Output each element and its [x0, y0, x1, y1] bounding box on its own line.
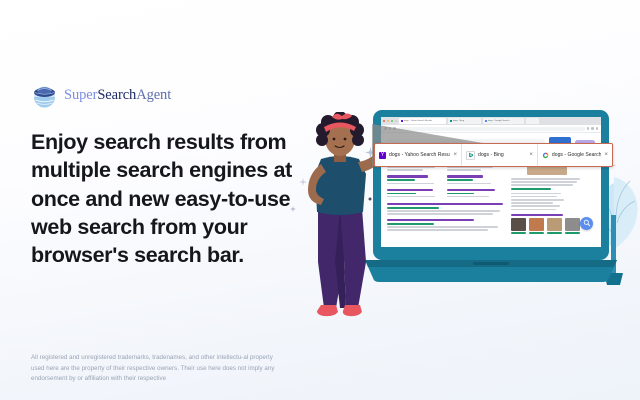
extensions-icon[interactable]: [591, 127, 594, 130]
brand-logo: SuperSearchAgent: [31, 80, 299, 110]
brand-word-search: Search: [97, 87, 136, 103]
window-extra-dot: [395, 120, 397, 122]
bing-glyph-icon: [468, 152, 474, 158]
menu-icon[interactable]: [596, 127, 599, 130]
magnified-tab-label: dogs - Bing: [478, 152, 526, 158]
star-icon[interactable]: [587, 127, 590, 130]
new-tab-button[interactable]: [526, 118, 539, 124]
promo-banner: SuperSearchAgent Enjoy search results fr…: [0, 0, 640, 400]
globe-saucer-logo-icon: [31, 82, 58, 109]
browser-tab-bar[interactable]: dogs - Yahoo Search Results dogs - Bing …: [381, 117, 601, 125]
browser-tab-label: dogs - Bing: [453, 120, 464, 122]
related-image[interactable]: [565, 218, 580, 231]
magnified-tab-google[interactable]: dogs - Google Search ×: [538, 144, 612, 166]
browser-url-bar[interactable]: [381, 125, 601, 133]
google-glyph-icon: [542, 152, 549, 159]
google-icon: [542, 152, 549, 159]
brand-wordmark: SuperSearchAgent: [64, 88, 171, 103]
brand-word-super: Super: [64, 87, 97, 103]
magnified-tab-bing[interactable]: dogs - Bing ×: [462, 144, 538, 166]
laptop-illustration: dogs - Yahoo Search Results dogs - Bing …: [365, 110, 617, 288]
google-icon: [485, 120, 488, 123]
browser-tab[interactable]: dogs - Yahoo Search Results: [399, 118, 446, 124]
hero-text-column: SuperSearchAgent Enjoy search results fr…: [31, 80, 299, 269]
brand-word-agent: Agent: [136, 87, 171, 103]
related-image[interactable]: [529, 218, 544, 231]
related-image[interactable]: [511, 218, 526, 231]
bing-icon: [466, 151, 475, 160]
magnified-tab-yahoo[interactable]: Y dogs - Yahoo Search Results ×: [375, 144, 462, 166]
yahoo-icon: Y: [379, 152, 386, 159]
floating-search-button[interactable]: [580, 217, 593, 230]
address-input[interactable]: [398, 127, 585, 131]
headline: Enjoy search results from multiple searc…: [31, 128, 293, 269]
close-icon[interactable]: ×: [453, 152, 457, 158]
browser-tab[interactable]: dogs - Bing: [448, 118, 481, 124]
browser-tab[interactable]: dogs - Google Search: [483, 118, 524, 124]
reload-icon[interactable]: [393, 127, 396, 130]
browser-tab-label: dogs - Yahoo Search Results: [404, 120, 432, 122]
magnified-tab-strip: Y dogs - Yahoo Search Results × dogs - B…: [374, 143, 613, 167]
yahoo-icon: [401, 120, 404, 123]
related-image[interactable]: [547, 218, 562, 231]
browser-tab-label: dogs - Google Search: [488, 120, 509, 122]
close-icon[interactable]: ×: [604, 152, 608, 158]
magnified-tab-label: dogs - Yahoo Search Results: [389, 152, 450, 158]
bing-icon: [450, 120, 453, 123]
browser-window: dogs - Yahoo Search Results dogs - Bing …: [381, 117, 601, 247]
close-icon[interactable]: ×: [529, 152, 533, 158]
magnified-tab-label: dogs - Google Search: [552, 152, 602, 158]
search-icon: [583, 219, 591, 227]
legal-disclaimer: All registered and unregistered trademar…: [31, 353, 287, 385]
